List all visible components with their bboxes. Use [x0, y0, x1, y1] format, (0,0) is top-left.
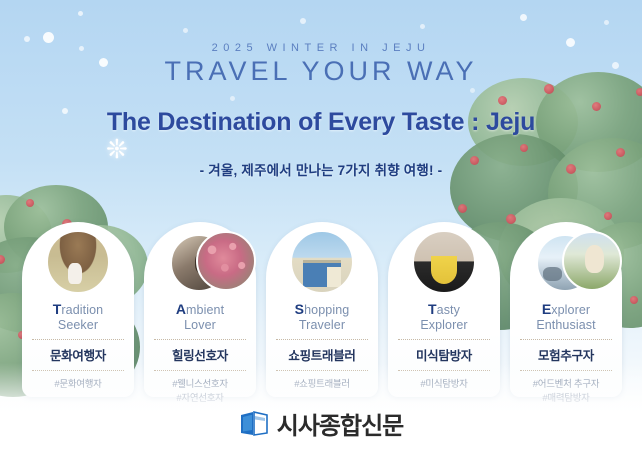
card-en-line2: Traveler	[299, 318, 345, 332]
card-photo-group	[144, 230, 256, 296]
snow-dot	[520, 14, 527, 21]
card-kr-name: 미식탐방자	[388, 345, 500, 364]
photo-blossom-icon	[196, 231, 256, 291]
photo-shopping-mall-icon	[290, 230, 354, 294]
card-en-name: Ambient Lover	[144, 302, 256, 333]
page-subtitle: - 겨울, 제주에서 만나는 7가지 취향 여행! -	[0, 159, 642, 179]
snow-dot	[470, 88, 475, 93]
card-tag-list: #쇼핑트래블러	[266, 378, 378, 392]
poster-canvas: ❊	[0, 0, 642, 455]
snow-dot	[78, 11, 83, 16]
page-title: The Destination of Every Taste : Jeju	[0, 108, 642, 137]
card-tag: #미식탐방자	[388, 378, 500, 392]
card-kr-name: 문화여행자	[22, 345, 134, 364]
snow-dot	[604, 20, 609, 25]
card-en-name: Explorer Enthusiast	[510, 302, 622, 333]
card-en-initial: A	[176, 301, 186, 317]
brand-name: 시사종합신문	[277, 406, 403, 441]
card-en-line2: Seeker	[58, 318, 98, 332]
card-divider-top	[520, 339, 612, 340]
card-en-name: Tasty Explorer	[388, 302, 500, 333]
card-en-name: Shopping Traveler	[266, 302, 378, 333]
card-en-rest: hopping	[304, 303, 349, 317]
snow-dot	[300, 18, 306, 24]
card-divider-bottom	[276, 370, 368, 371]
card-tag: #웰니스선호자	[144, 378, 256, 392]
card-kr-name: 모험추구자	[510, 345, 622, 364]
card-divider-bottom	[32, 370, 124, 371]
card-tag-list: #미식탐방자	[388, 378, 500, 392]
persona-card-explorer-enthusiast[interactable]: Explorer Enthusiast 모험추구자 #어드벤처 추구자 #매력탐…	[510, 222, 622, 397]
snow-dot	[183, 28, 188, 33]
persona-card-shopping-traveler[interactable]: Shopping Traveler 쇼핑트래블러 #쇼핑트래블러	[266, 222, 378, 397]
snow-dot	[230, 96, 235, 101]
card-photo-group	[22, 230, 134, 296]
card-en-rest: radition	[61, 303, 103, 317]
snow-dot	[420, 24, 425, 29]
card-tag: #어드벤처 추구자	[510, 378, 622, 392]
photo-hanok-village-icon	[46, 230, 110, 294]
card-divider-top	[398, 339, 490, 340]
card-kr-name: 힐링선호자	[144, 345, 256, 364]
card-en-line2: Enthusiast	[536, 318, 595, 332]
card-tag: #문화여행자	[22, 378, 134, 392]
card-en-rest: mbient	[186, 303, 224, 317]
card-en-rest: asty	[437, 303, 460, 317]
card-divider-bottom	[520, 370, 612, 371]
newspaper-logo-icon	[239, 410, 269, 438]
footer-brand: 시사종합신문	[0, 406, 642, 441]
card-tag: #쇼핑트래블러	[266, 378, 378, 392]
card-photo-group	[266, 230, 378, 296]
card-divider-bottom	[398, 370, 490, 371]
card-tag-list: #어드벤처 추구자 #매력탐방자	[510, 378, 622, 406]
card-en-rest: xplorer	[551, 303, 590, 317]
card-divider-bottom	[154, 370, 246, 371]
card-en-initial: S	[295, 301, 304, 317]
card-divider-top	[32, 339, 124, 340]
card-divider-top	[154, 339, 246, 340]
kicker-text: 2025 WINTER IN JEJU	[0, 42, 642, 54]
photo-noodle-bowl-icon	[412, 230, 476, 294]
persona-card-ambient-lover[interactable]: Ambient Lover 힐링선호자 #웰니스선호자 #자연선호자	[144, 222, 256, 397]
card-photo-group	[510, 230, 622, 296]
card-en-line2: Explorer	[420, 318, 467, 332]
card-en-initial: T	[428, 301, 437, 317]
wordmark-title: TRAVEL YOUR WAY	[0, 56, 642, 87]
card-divider-top	[276, 339, 368, 340]
card-en-initial: E	[542, 301, 551, 317]
card-en-line2: Lover	[184, 318, 216, 332]
photo-orange-picking-icon	[562, 231, 622, 291]
persona-card-list: Tradition Seeker 문화여행자 #문화여행자 Ambient Lo…	[22, 222, 622, 397]
card-tag: #자연선호자	[144, 392, 256, 406]
card-kr-name: 쇼핑트래블러	[266, 345, 378, 364]
card-tag-list: #문화여행자	[22, 378, 134, 392]
card-en-name: Tradition Seeker	[22, 302, 134, 333]
persona-card-tasty-explorer[interactable]: Tasty Explorer 미식탐방자 #미식탐방자	[388, 222, 500, 397]
persona-card-tradition-seeker[interactable]: Tradition Seeker 문화여행자 #문화여행자	[22, 222, 134, 397]
card-tag: #매력탐방자	[510, 392, 622, 406]
card-photo-group	[388, 230, 500, 296]
card-tag-list: #웰니스선호자 #자연선호자	[144, 378, 256, 406]
